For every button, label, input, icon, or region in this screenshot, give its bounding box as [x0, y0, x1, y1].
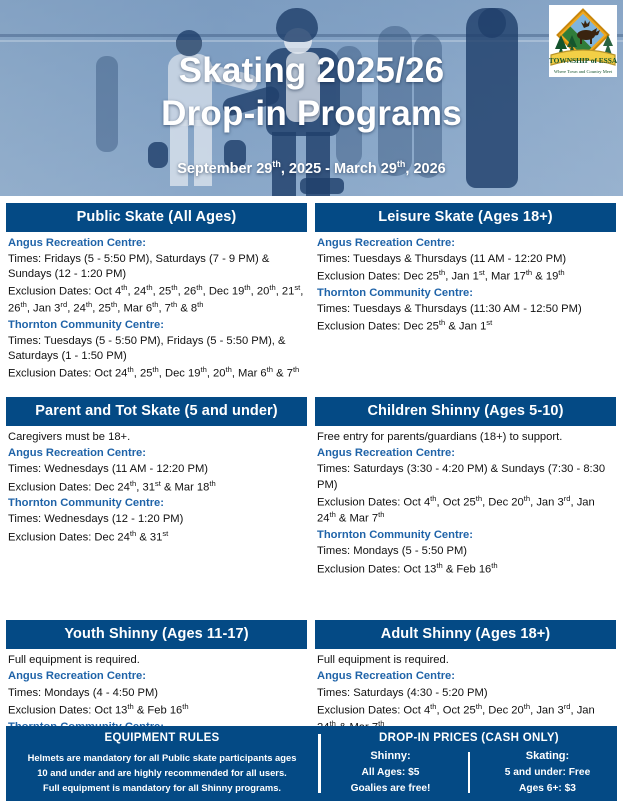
poster-title-line-1: Skating 2025/26 — [0, 50, 623, 93]
date-range-start-ordinal: th — [272, 159, 280, 169]
schedule-line: Times: Mondays (5 - 5:50 PM) — [317, 544, 614, 559]
card-body-children-shinny: Free entry for parents/guardians (18+) t… — [315, 426, 616, 577]
venue-name: Thornton Community Centre: — [8, 496, 305, 511]
card-title-children-shinny: Children Shinny (Ages 5-10) — [315, 397, 616, 426]
price-group-skating-lines: 5 and under: FreeAges 6+: $3 — [482, 765, 613, 797]
schedule-line: Times: Tuesdays & Thursdays (11 AM - 12:… — [317, 252, 614, 267]
card-note: Full equipment is required. — [8, 653, 305, 668]
price-line: All Ages: $5 — [325, 765, 456, 781]
venue-name: Thornton Community Centre: — [8, 318, 305, 333]
date-range-start: September 29 — [177, 161, 272, 177]
price-line: 5 and under: Free — [482, 765, 613, 781]
program-grid: Public Skate (All Ages) Angus Recreation… — [6, 203, 617, 786]
program-card-parent-and-tot-skate: Parent and Tot Skate (5 and under) Careg… — [6, 397, 307, 578]
township-of-essa-logo: TOWNSHIP of ESSA Where Town and Country … — [549, 5, 617, 77]
schedule-line: Times: Wednesdays (11 AM - 12:20 PM) — [8, 462, 305, 477]
date-range-middle: , 2025 - March 29 — [281, 161, 397, 177]
schedule-line: Exclusion Dates: Dec 25th & Jan 1st — [317, 318, 614, 335]
poster-title: Skating 2025/26 Drop-in Programs — [0, 50, 623, 135]
card-body-public-skate: Angus Recreation Centre:Times: Fridays (… — [6, 232, 307, 382]
card-title-youth-shinny: Youth Shinny (Ages 11-17) — [6, 620, 307, 649]
card-note: Caregivers must be 18+. — [8, 430, 305, 445]
date-range-end: , 2026 — [405, 161, 445, 177]
price-group-shinny: Shinny: All Ages: $5Goalies are free! — [325, 750, 456, 797]
program-row-1: Public Skate (All Ages) Angus Recreation… — [6, 203, 617, 383]
schedule-line: Times: Fridays (5 - 5:50 PM), Saturdays … — [8, 252, 305, 282]
price-group-skating-heading: Skating: — [482, 750, 613, 762]
price-columns: Shinny: All Ages: $5Goalies are free! Sk… — [325, 750, 613, 797]
venue-name: Angus Recreation Centre: — [8, 236, 305, 251]
equipment-rule-line: Helmets are mandatory for all Public ska… — [14, 750, 310, 765]
card-title-adult-shinny: Adult Shinny (Ages 18+) — [315, 620, 616, 649]
venue-name: Angus Recreation Centre: — [8, 446, 305, 461]
logo-name-text: TOWNSHIP of ESSA — [549, 56, 617, 65]
row-spacer-1 — [6, 383, 617, 397]
schedule-line: Times: Tuesdays (5 - 5:50 PM), Fridays (… — [8, 334, 305, 364]
schedule-line: Times: Mondays (4 - 4:50 PM) — [8, 686, 305, 701]
poster-date-range: September 29th, 2025 - March 29th, 2026 — [0, 159, 623, 177]
equipment-rules-title: EQUIPMENT RULES — [14, 732, 310, 744]
price-line: Goalies are free! — [325, 781, 456, 797]
schedule-line: Exclusion Dates: Oct 4th, 24th, 25th, 26… — [8, 283, 305, 317]
program-card-leisure-skate: Leisure Skate (Ages 18+) Angus Recreatio… — [315, 203, 616, 383]
footer-bar: EQUIPMENT RULES Helmets are mandatory fo… — [6, 726, 617, 801]
schedule-line: Exclusion Dates: Dec 24th, 31st & Mar 18… — [8, 479, 305, 496]
equipment-rules-section: EQUIPMENT RULES Helmets are mandatory fo… — [6, 726, 318, 801]
schedule-line: Exclusion Dates: Dec 24th & 31st — [8, 529, 305, 546]
price-group-shinny-lines: All Ages: $5Goalies are free! — [325, 765, 456, 797]
venue-name: Angus Recreation Centre: — [8, 669, 305, 684]
venue-name: Thornton Community Centre: — [317, 528, 614, 543]
program-card-children-shinny: Children Shinny (Ages 5-10) Free entry f… — [315, 397, 616, 578]
card-title-leisure-skate: Leisure Skate (Ages 18+) — [315, 203, 616, 232]
venue-name: Angus Recreation Centre: — [317, 236, 614, 251]
hero-text-overlay: Skating 2025/26 Drop-in Programs Septemb… — [0, 0, 623, 196]
schedule-line: Times: Wednesdays (12 - 1:20 PM) — [8, 512, 305, 527]
schedule-line: Times: Saturdays (3:30 - 4:20 PM) & Sund… — [317, 462, 614, 492]
program-row-2: Parent and Tot Skate (5 and under) Careg… — [6, 397, 617, 578]
schedule-line: Exclusion Dates: Oct 4th, Oct 25th, Dec … — [317, 494, 614, 528]
price-group-skating: Skating: 5 and under: FreeAges 6+: $3 — [482, 750, 613, 797]
card-note: Full equipment is required. — [317, 653, 614, 668]
schedule-line: Exclusion Dates: Dec 25th, Jan 1st, Mar … — [317, 268, 614, 285]
schedule-line: Exclusion Dates: Oct 13th & Feb 16th — [8, 702, 305, 719]
row-spacer-2 — [6, 578, 617, 620]
venue-name: Angus Recreation Centre: — [317, 669, 614, 684]
logo-crest-icon: TOWNSHIP of ESSA Where Town and Country … — [549, 5, 617, 77]
poster-title-line-2: Drop-in Programs — [0, 93, 623, 136]
card-note: Free entry for parents/guardians (18+) t… — [317, 430, 614, 445]
card-title-parent-and-tot-skate: Parent and Tot Skate (5 and under) — [6, 397, 307, 426]
logo-tagline-text: Where Town and Country Meet — [554, 69, 613, 74]
price-group-shinny-heading: Shinny: — [325, 750, 456, 762]
hero-banner: Skating 2025/26 Drop-in Programs Septemb… — [0, 0, 623, 196]
card-body-parent-and-tot-skate: Caregivers must be 18+.Angus Recreation … — [6, 426, 307, 545]
equipment-rules-text: Helmets are mandatory for all Public ska… — [14, 750, 310, 796]
drop-in-prices-title: DROP-IN PRICES (CASH ONLY) — [325, 732, 613, 744]
drop-in-prices-section: DROP-IN PRICES (CASH ONLY) Shinny: All A… — [321, 726, 617, 801]
equipment-rule-line: 10 and under and are highly recommended … — [14, 765, 310, 780]
equipment-rule-line: Full equipment is mandatory for all Shin… — [14, 780, 310, 795]
skating-programs-poster: Skating 2025/26 Drop-in Programs Septemb… — [0, 0, 623, 807]
program-card-public-skate: Public Skate (All Ages) Angus Recreation… — [6, 203, 307, 383]
schedule-line: Times: Saturdays (4:30 - 5:20 PM) — [317, 686, 614, 701]
schedule-line: Times: Tuesdays & Thursdays (11:30 AM - … — [317, 302, 614, 317]
venue-name: Thornton Community Centre: — [317, 286, 614, 301]
price-line: Ages 6+: $3 — [482, 781, 613, 797]
schedule-line: Exclusion Dates: Oct 24th, 25th, Dec 19t… — [8, 365, 305, 382]
card-title-public-skate: Public Skate (All Ages) — [6, 203, 307, 232]
schedule-line: Exclusion Dates: Oct 13th & Feb 16th — [317, 561, 614, 578]
venue-name: Angus Recreation Centre: — [317, 446, 614, 461]
footer-divider-prices — [468, 752, 470, 793]
card-body-leisure-skate: Angus Recreation Centre:Times: Tuesdays … — [315, 232, 616, 335]
